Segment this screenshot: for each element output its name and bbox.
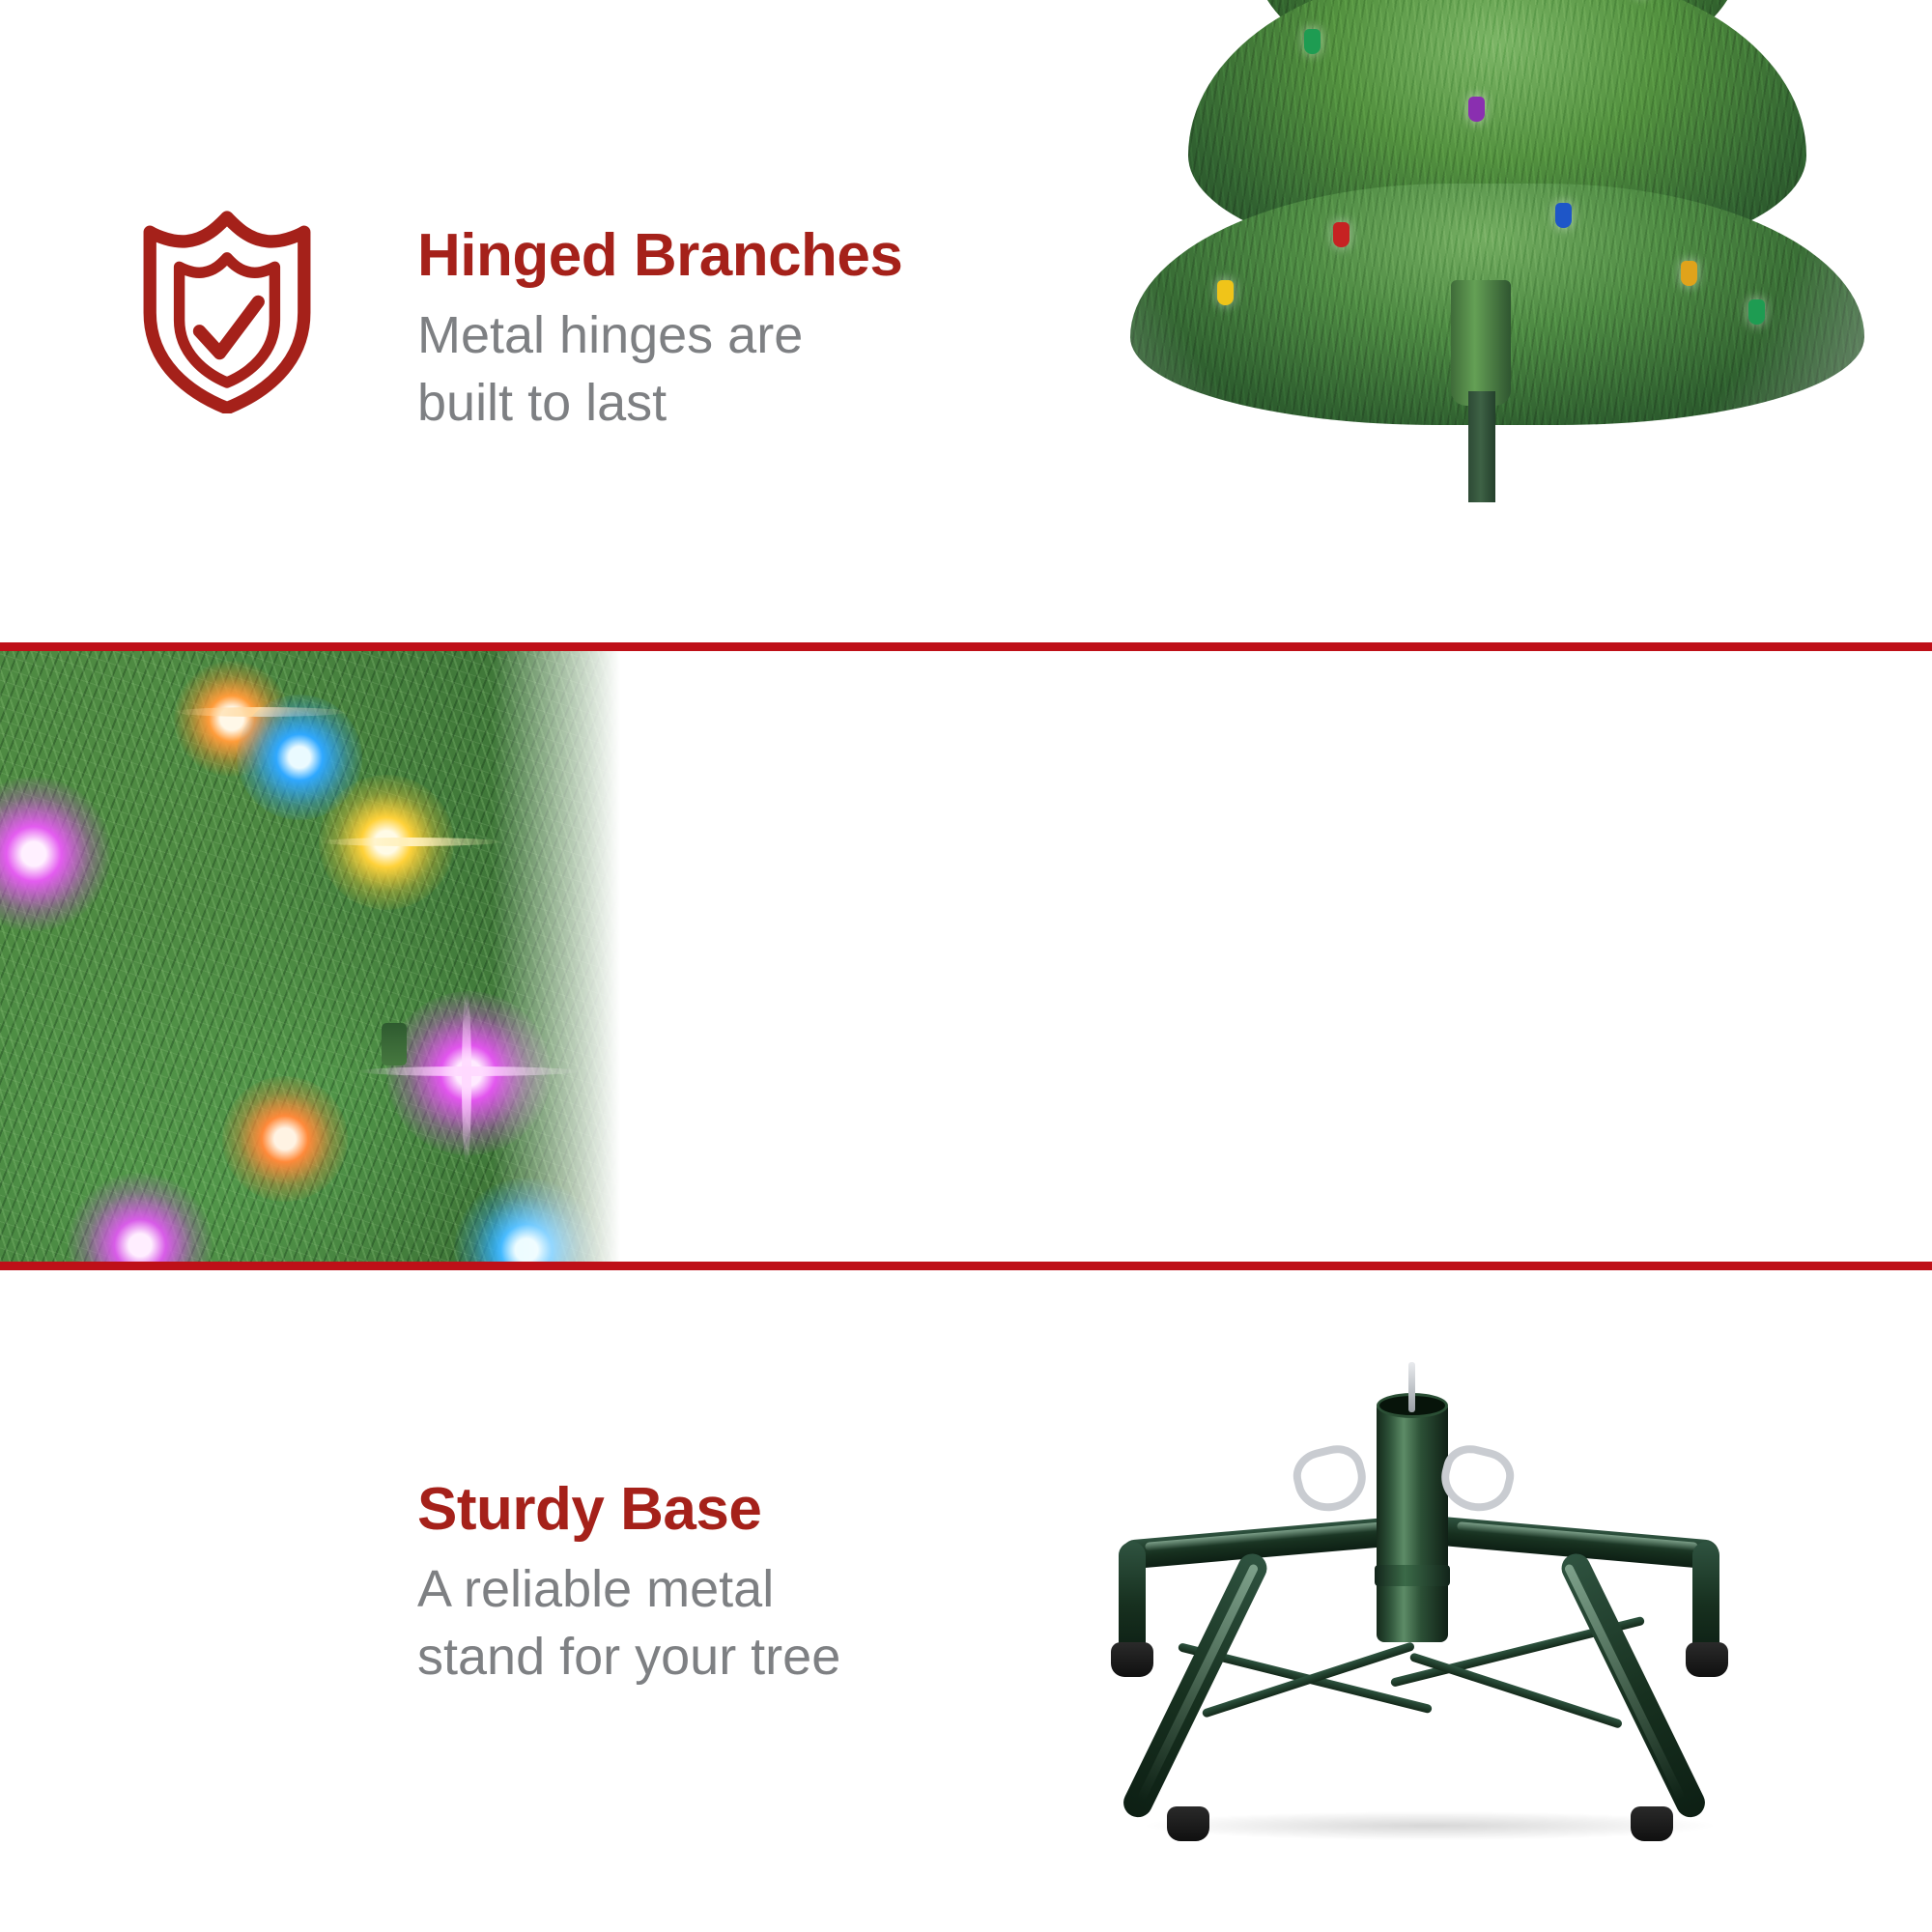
section-divider (0, 642, 1932, 651)
lit-branches-photo (0, 651, 638, 1262)
shield-check-icon (135, 205, 319, 413)
feature-title: Hinged Branches (417, 224, 902, 288)
feature-text-sturdy-base: Sturdy Base A reliable metal stand for y… (417, 1478, 840, 1690)
feature-title: Sturdy Base (417, 1478, 840, 1542)
infographic-page: Hinged Branches Metal hinges are built t… (0, 0, 1932, 1932)
feature-description: Metal hinges are built to last (417, 301, 902, 437)
feature-panel-sturdy-base: Sturdy Base A reliable metal stand for y… (0, 1270, 1932, 1932)
feature-text-hinged-branches: Hinged Branches Metal hinges are built t… (417, 224, 902, 437)
feature-panel-pvc-tips: PVC Tips Flame-retardant and easy to flu… (0, 651, 1932, 1262)
thumbscrew-left (1288, 1439, 1373, 1519)
section-divider (0, 1262, 1932, 1270)
christmas-tree-base-photo (1014, 0, 1932, 642)
feature-description: A reliable metal stand for your tree (417, 1555, 840, 1690)
feature-panel-hinged-branches: Hinged Branches Metal hinges are built t… (0, 0, 1932, 642)
metal-tree-stand-photo (1005, 1323, 1835, 1884)
